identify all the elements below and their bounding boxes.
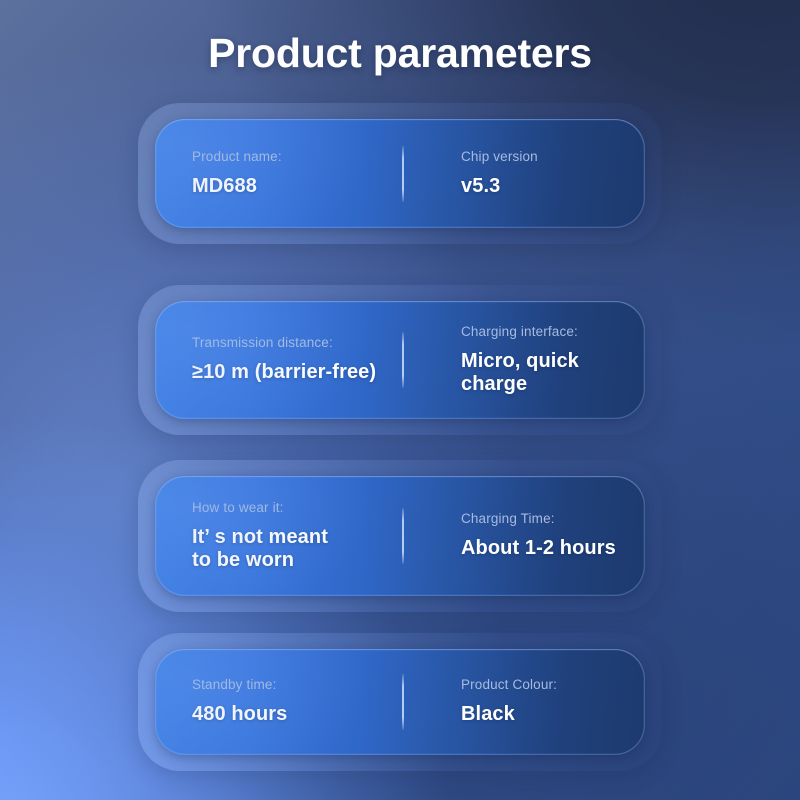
field-value: MD688 [192,175,402,198]
parameter-field-right: Product Colour: Black [404,677,645,726]
field-value: 480 hours [192,703,402,726]
field-label: Standby time: [192,677,402,692]
field-value: It’ s not meant to be worn [192,526,402,572]
parameter-card-panel: Standby time: 480 hours Product Colour: … [155,649,645,755]
parameter-card-body: How to wear it: It’ s not meant to be wo… [155,476,645,596]
parameter-field-right: Charging Time: About 1-2 hours [404,511,645,560]
parameter-card-panel: Product name: MD688 Chip version v5.3 [155,119,645,228]
parameter-card: Standby time: 480 hours Product Colour: … [138,633,662,771]
parameter-field-left: Transmission distance: ≥10 m (barrier-fr… [155,335,402,384]
field-label: Product Colour: [461,677,645,692]
parameter-card-panel: How to wear it: It’ s not meant to be wo… [155,476,645,596]
parameter-field-right: Charging interface: Micro, quick charge [404,324,645,396]
parameter-card-body: Standby time: 480 hours Product Colour: … [155,649,645,755]
field-value: v5.3 [461,175,645,198]
field-label: Transmission distance: [192,335,402,350]
field-label: How to wear it: [192,500,402,515]
parameter-card: Transmission distance: ≥10 m (barrier-fr… [138,285,662,435]
parameter-card-panel: Transmission distance: ≥10 m (barrier-fr… [155,301,645,419]
parameter-card-list: Product name: MD688 Chip version v5.3 Tr… [0,0,800,800]
field-value: Micro, quick charge [461,350,645,396]
field-label: Chip version [461,149,645,164]
field-value: About 1-2 hours [461,537,645,560]
parameter-field-right: Chip version v5.3 [404,149,645,198]
parameter-card-body: Transmission distance: ≥10 m (barrier-fr… [155,301,645,419]
field-label: Product name: [192,149,402,164]
field-value: ≥10 m (barrier-free) [192,361,402,384]
parameter-card: How to wear it: It’ s not meant to be wo… [138,460,662,612]
field-label: Charging interface: [461,324,645,339]
parameter-field-left: How to wear it: It’ s not meant to be wo… [155,500,402,572]
parameter-field-left: Product name: MD688 [155,149,402,198]
field-label: Charging Time: [461,511,645,526]
parameter-card: Product name: MD688 Chip version v5.3 [138,103,662,244]
parameter-field-left: Standby time: 480 hours [155,677,402,726]
parameter-card-body: Product name: MD688 Chip version v5.3 [155,119,645,228]
field-value: Black [461,703,645,726]
